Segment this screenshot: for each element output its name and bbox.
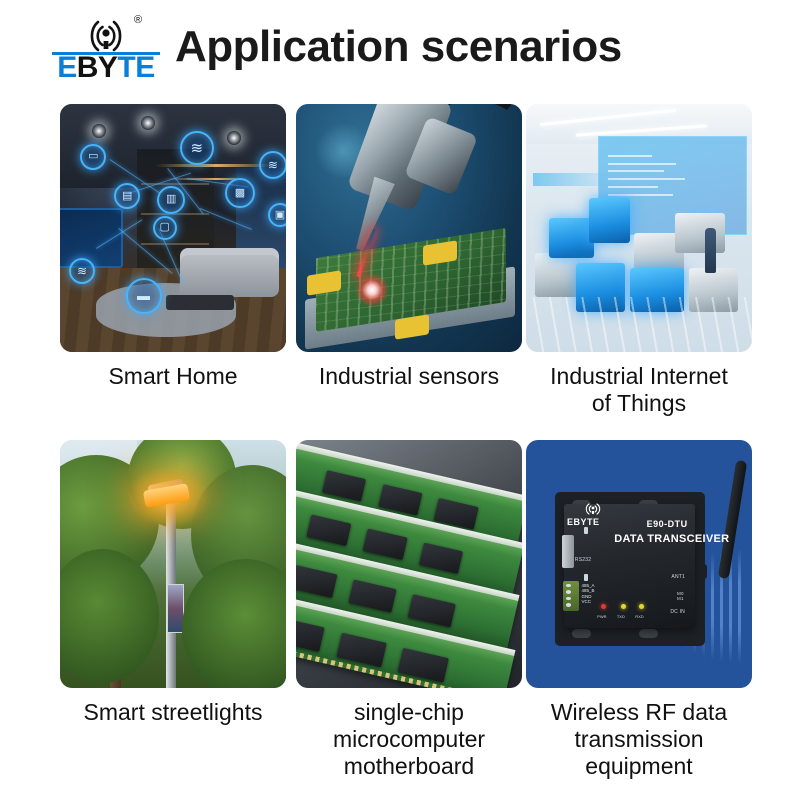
scenario-caption: single-chipmicrocomputermotherboard [287, 699, 531, 780]
scenario-image-industrial-sensors [296, 104, 522, 352]
page-title: Application scenarios [175, 22, 675, 72]
scenario-caption-line2: of Things [592, 390, 686, 416]
led-pwr [601, 604, 606, 609]
led-label-pwr: PWR [597, 614, 606, 619]
ant1-label: ANT1 [671, 574, 685, 580]
logo-wordmark: EBYTE [46, 54, 166, 82]
mode-pin-m1: M1 [677, 596, 684, 601]
scenario-caption: Smart Home [60, 363, 286, 390]
mode-pins-label: M0M1 [677, 591, 684, 601]
iot-node-device-icon: ▬ [126, 278, 162, 314]
scenario-row-2: Smart streetlights [0, 440, 800, 770]
led-rxd [639, 604, 644, 609]
dc-in-label: DC IN [670, 609, 685, 615]
led-label-rxd: RXD [635, 614, 643, 619]
scenario-cell-wireless-rf-equipment[interactable]: EBYTE E90-DTU DATA TRANSCEIVER RS232 ANT… [526, 440, 752, 780]
terminal-labels: 485_A485_BGNDVCC [581, 583, 594, 605]
iot-node-panel-icon: ▣ [268, 203, 286, 227]
logo-letter-e: E [57, 51, 77, 84]
rs232-db9-connector [562, 535, 574, 567]
terminal-label-gnd: GND [581, 594, 591, 599]
scenario-caption-line3: motherboard [344, 753, 474, 779]
registered-mark: ® [134, 14, 142, 26]
scenario-image-industrial-iot [526, 104, 752, 352]
scenario-caption: Smart streetlights [51, 699, 295, 726]
scenario-cell-industrial-sensors[interactable]: Industrial sensors [296, 104, 522, 390]
scenario-caption-line2: microcomputer [333, 726, 485, 752]
device-product-title: DATA TRANSCEIVER [614, 533, 729, 545]
iot-node-tv-icon: ▭ [80, 144, 106, 170]
terminal-label-vcc: VCC [581, 599, 591, 604]
ebyte-logo: ® EBYTE [46, 14, 166, 82]
device-model-label: E90-DTU [647, 519, 688, 529]
led-txd [621, 604, 626, 609]
iot-node-wifi2-icon: ≋ [259, 151, 286, 179]
scenario-caption-line3: equipment [585, 753, 692, 779]
scenario-cell-smart-streetlights[interactable]: Smart streetlights [60, 440, 286, 726]
device-brand-label: EBYTE [567, 517, 600, 527]
iot-node-display-icon: ▢ [153, 216, 177, 240]
antenna-signal-icon [74, 16, 138, 56]
rs232-label: RS232 [575, 557, 591, 563]
iot-node-wifi-icon: ≋ [180, 131, 214, 165]
iot-node-kitchen-icon: ▥ [157, 186, 185, 214]
scenario-cell-industrial-iot[interactable]: Industrial Internetof Things [526, 104, 752, 417]
scenario-image-e90-dtu: EBYTE E90-DTU DATA TRANSCEIVER RS232 ANT… [526, 440, 752, 688]
scenario-image-smart-streetlights [60, 440, 286, 688]
terminal-label-485a: 485_A [581, 583, 594, 588]
scenario-caption: Industrial Internetof Things [517, 363, 761, 417]
logo-letters-te: TE [117, 51, 154, 84]
scenario-row-1: ▭ ≋ ≋ ▤ ▥ ▩ ▣ ▢ ≋ ▬ Smart Home [0, 104, 800, 438]
device-antenna-signal-icon [578, 502, 608, 516]
device-body: EBYTE E90-DTU DATA TRANSCEIVER RS232 ANT… [564, 504, 695, 628]
scenario-cell-microcomputer-motherboard[interactable]: single-chipmicrocomputermotherboard [296, 440, 522, 780]
page-header: ® EBYTE Application scenarios [0, 0, 800, 100]
scenario-caption-line1: single-chip [354, 699, 464, 725]
iot-node-router-icon: ≋ [69, 258, 95, 284]
scenario-caption: Industrial sensors [296, 363, 522, 390]
scenario-caption-line2: transmission [574, 726, 703, 752]
led-label-txd: TXD [617, 614, 625, 619]
scenario-caption-line1: Industrial Internet [550, 363, 728, 389]
scenario-image-smart-home: ▭ ≋ ≋ ▤ ▥ ▩ ▣ ▢ ≋ ▬ [60, 104, 286, 352]
scenario-cell-smart-home[interactable]: ▭ ≋ ≋ ▤ ▥ ▩ ▣ ▢ ≋ ▬ Smart Home [60, 104, 286, 390]
terminal-label-485b: 485_B [581, 588, 594, 593]
logo-letters-by: BY [77, 51, 118, 84]
e90-dtu-device: EBYTE E90-DTU DATA TRANSCEIVER RS232 ANT… [526, 440, 752, 688]
scenario-grid: ▭ ≋ ≋ ▤ ▥ ▩ ▣ ▢ ≋ ▬ Smart Home [0, 104, 800, 770]
scenario-caption-line1: Wireless RF data [551, 699, 727, 725]
scenario-caption: Wireless RF datatransmissionequipment [517, 699, 761, 780]
screw-terminal-block [563, 581, 579, 611]
scenario-image-microcomputer-motherboard [296, 440, 522, 688]
